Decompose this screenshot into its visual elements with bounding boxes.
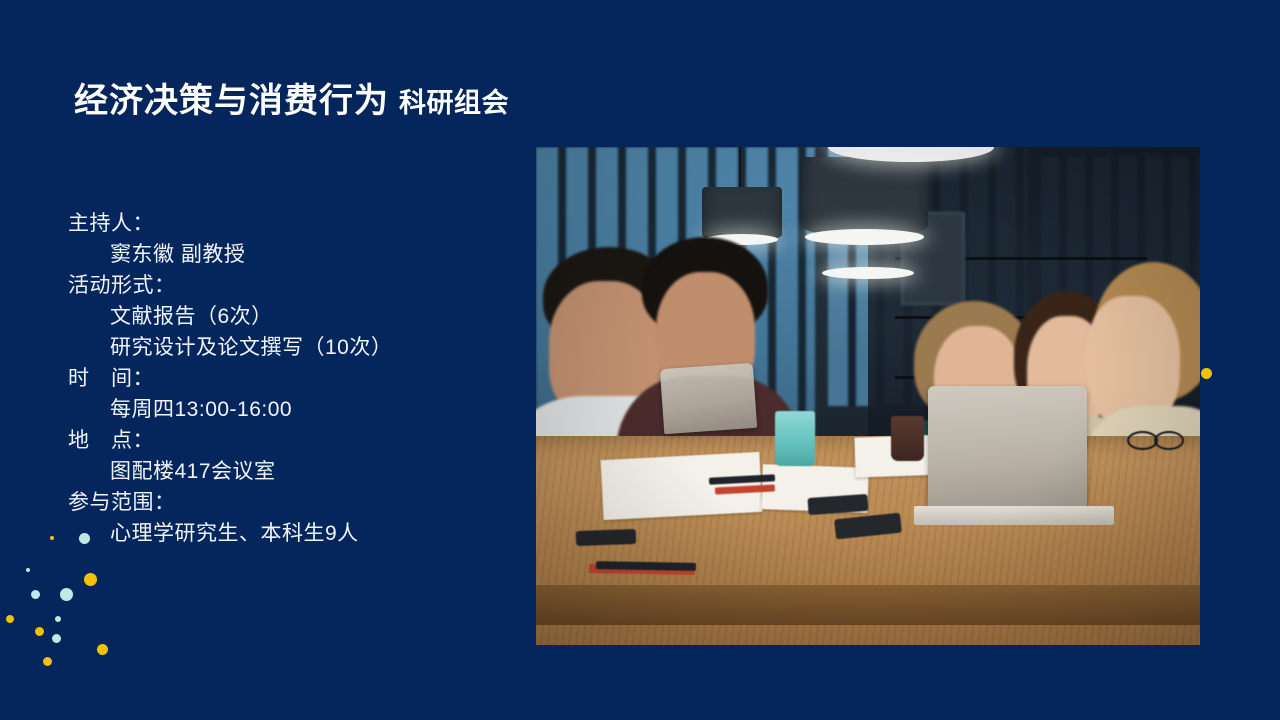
info-label-host: 主持人：	[68, 208, 392, 239]
photo-vignette	[536, 147, 1200, 645]
presentation-slide: 经济决策与消费行为科研组会 主持人： 窦东徽 副教授 活动形式： 文献报告（6次…	[0, 0, 1280, 720]
decorative-dot	[79, 533, 90, 544]
decorative-dot	[26, 568, 30, 572]
decorative-dot	[6, 615, 14, 623]
title-sub-text: 科研组会	[399, 88, 509, 118]
info-value-format-2: 研究设计及论文撰写（10次）	[110, 332, 392, 363]
info-value-time: 每周四13:00-16:00	[110, 394, 392, 425]
meeting-photo	[536, 147, 1200, 645]
decorative-dot	[55, 616, 61, 622]
page-title: 经济决策与消费行为科研组会	[74, 84, 509, 118]
decorative-dot	[50, 536, 54, 540]
decorative-dot	[84, 573, 97, 586]
decorative-dot	[97, 644, 108, 655]
info-label-format: 活动形式：	[68, 270, 392, 301]
decorative-dot	[43, 657, 52, 666]
info-label-time: 时 间：	[68, 363, 392, 394]
meeting-info-list: 主持人： 窦东徽 副教授 活动形式： 文献报告（6次） 研究设计及论文撰写（10…	[68, 208, 392, 549]
decorative-dot	[1201, 368, 1212, 379]
decorative-dot	[52, 634, 61, 643]
info-label-location: 地 点：	[68, 425, 392, 456]
info-value-location: 图配楼417会议室	[110, 456, 392, 487]
decorative-dot	[35, 627, 44, 636]
info-value-audience: 心理学研究生、本科生9人	[110, 518, 392, 549]
info-value-format-1: 文献报告（6次）	[110, 301, 392, 332]
decorative-dot	[31, 590, 40, 599]
title-main-text: 经济决策与消费行为	[74, 82, 389, 120]
info-label-audience: 参与范围：	[68, 487, 392, 518]
decorative-dot	[60, 588, 73, 601]
info-value-host: 窦东徽 副教授	[110, 239, 392, 270]
